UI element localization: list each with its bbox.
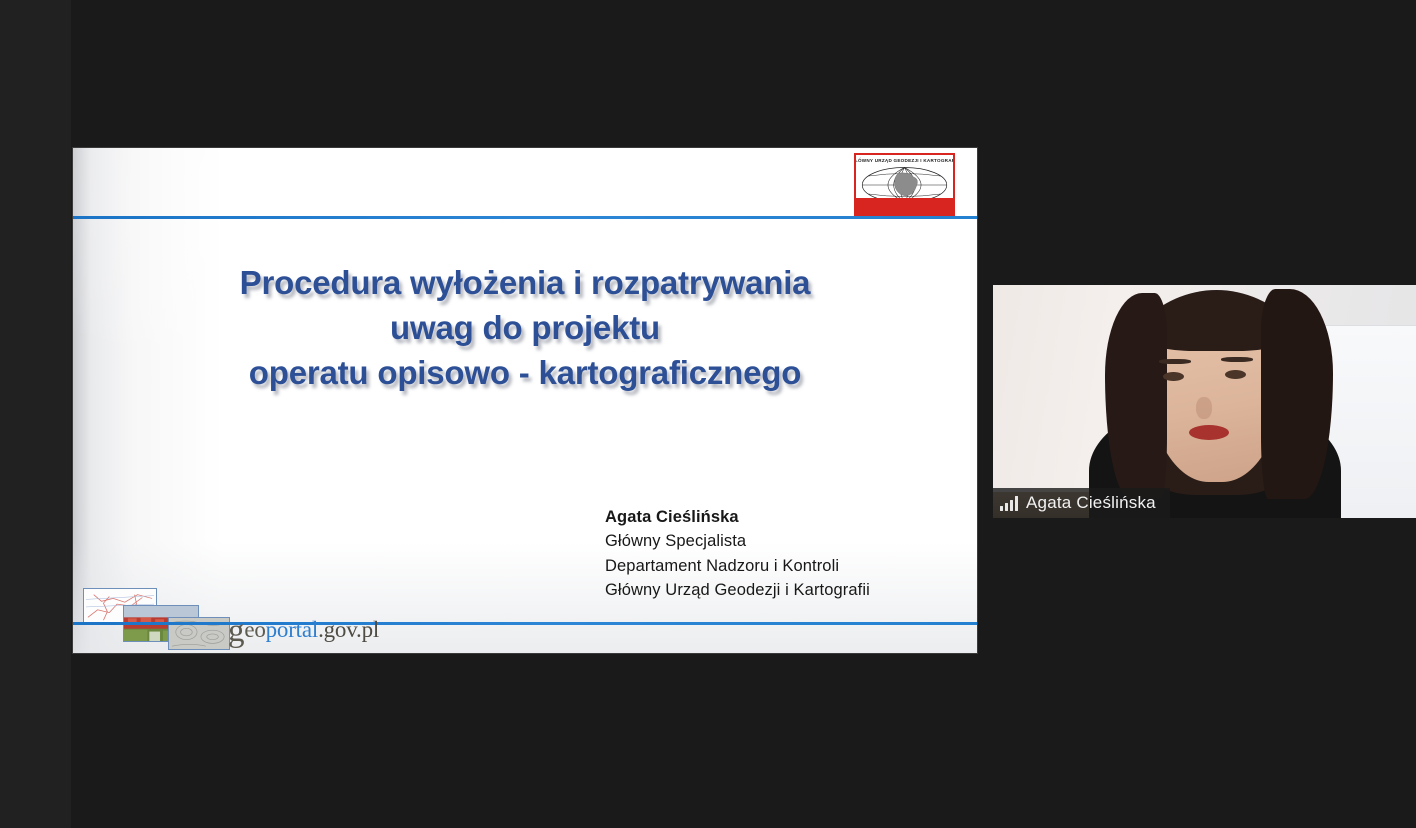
presenter-block: Agata Cieślińska Główny Specjalista Depa… bbox=[605, 505, 935, 602]
participant-brow-left bbox=[1159, 359, 1191, 364]
presenter-name: Agata Cieślińska bbox=[605, 505, 935, 529]
geoportal-portal-text: portal bbox=[266, 617, 318, 642]
participant-hair-left bbox=[1105, 293, 1167, 498]
participant-lips bbox=[1189, 425, 1229, 440]
geoportal-wordmark: geoportal.gov.pl bbox=[228, 617, 379, 643]
participant-video-tile[interactable]: Agata Cieślińska bbox=[993, 285, 1416, 518]
presenter-organization: Główny Urząd Geodezji i Kartografii bbox=[605, 578, 935, 602]
background-left-strip bbox=[0, 0, 71, 828]
logo-red-band bbox=[856, 198, 953, 215]
participant-name-badge: Agata Cieślińska bbox=[993, 488, 1170, 518]
slide-rule-bottom bbox=[73, 622, 977, 625]
geoportal-gov-text: .gov.pl bbox=[318, 617, 379, 642]
participant-eye-right bbox=[1225, 370, 1246, 379]
participant-hair-right bbox=[1261, 289, 1333, 499]
presenter-department: Departament Nadzoru i Kontroli bbox=[605, 554, 935, 578]
slide-rule-top bbox=[73, 216, 977, 219]
geoportal-geo-text: eo bbox=[244, 617, 265, 642]
meeting-screen: GŁÓWNY URZĄD GEODEZJI I KARTOGRAFII Proc… bbox=[0, 0, 1416, 828]
geoportal-g-initial: g bbox=[228, 613, 244, 649]
slide-title-line-1: Procedura wyłożenia i rozpatrywania bbox=[125, 260, 925, 305]
participant-name-label: Agata Cieślińska bbox=[1026, 493, 1156, 513]
presenter-position: Główny Specjalista bbox=[605, 529, 935, 553]
signal-bars-icon bbox=[1000, 496, 1018, 511]
participant-eye-left bbox=[1163, 372, 1184, 381]
slide-title-line-2: uwag do projektu bbox=[125, 305, 925, 350]
gugik-logo: GŁÓWNY URZĄD GEODEZJI I KARTOGRAFII bbox=[854, 153, 955, 217]
slide-title: Procedura wyłożenia i rozpatrywania uwag… bbox=[125, 260, 925, 396]
slide-title-line-3: operatu opisowo - kartograficznego bbox=[125, 350, 925, 395]
shared-presentation-slide[interactable]: GŁÓWNY URZĄD GEODEZJI I KARTOGRAFII Proc… bbox=[73, 148, 977, 653]
footer-thumbnails bbox=[78, 588, 238, 650]
participant-brow-right bbox=[1221, 357, 1253, 362]
participant-nose bbox=[1196, 397, 1212, 419]
